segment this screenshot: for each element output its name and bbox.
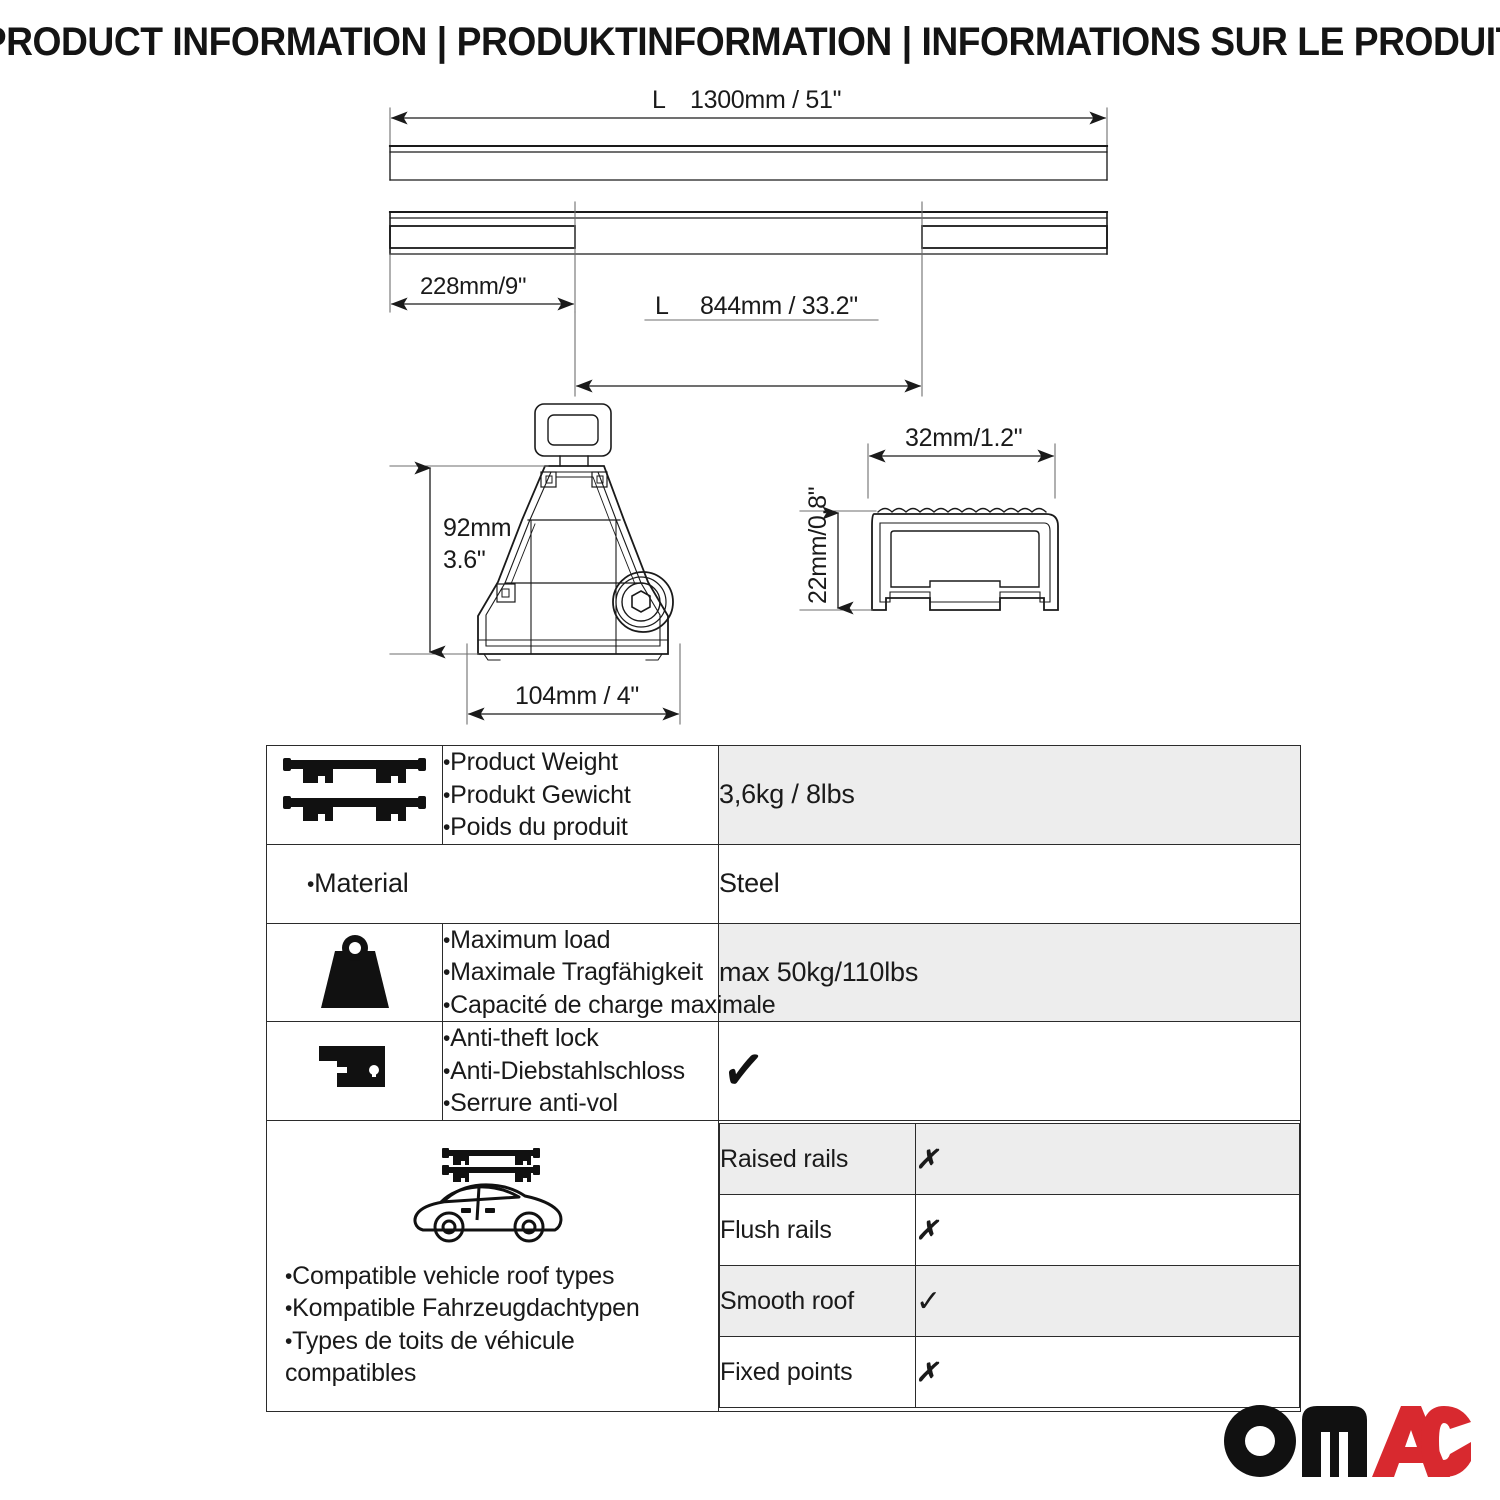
roof-types-table: Raised rails ✗ Flush rails ✗ <box>719 1123 1300 1408</box>
roof-type-row: Flush rails ✗ <box>720 1195 1300 1266</box>
roof-type-row: Fixed points ✗ <box>720 1337 1300 1408</box>
maximum-load-value-cell: max 50kg/110lbs <box>719 923 1301 1022</box>
roof-type-mark-cell: ✗ <box>916 1337 1300 1408</box>
maximum-load-value: max 50kg/110lbs <box>719 957 918 987</box>
profile-height-value: 22mm/0.8" <box>804 487 832 604</box>
roof-type-name: Raised rails <box>720 1124 916 1195</box>
roof-bars-icon <box>277 752 432 832</box>
label-fr: •Types de toits de véhicule compatibles <box>285 1325 685 1390</box>
roof-types-list-cell: Raised rails ✗ Flush rails ✗ <box>719 1120 1301 1411</box>
span-letter: L <box>655 292 669 320</box>
anti-theft-lock-check-icon: ✓ <box>719 1039 767 1103</box>
omac-logo-mark <box>1222 1402 1472 1480</box>
label-fr: •Capacité de charge maximale <box>443 989 718 1022</box>
label-de: •Anti-Diebstahlschloss <box>443 1055 718 1088</box>
foot-height-value-2: 3.6" <box>443 546 485 574</box>
end-offset-value: 228mm/9" <box>420 273 526 300</box>
lock-icon <box>305 1032 405 1104</box>
anti-theft-lock-labels: •Anti-theft lock •Anti-Diebstahlschloss … <box>443 1022 719 1121</box>
label-de: •Maximale Tragfähigkeit <box>443 956 718 989</box>
label-fr: •Poids du produit <box>443 811 718 844</box>
label-en: •Maximum load <box>443 924 718 957</box>
bar-length-value: 1300mm / 51" <box>690 86 841 114</box>
cross-icon: ✗ <box>916 1357 938 1387</box>
label-fr: •Serrure anti-vol <box>443 1087 718 1120</box>
roof-type-mark-cell: ✗ <box>916 1195 1300 1266</box>
label-en: •Compatible vehicle roof types <box>285 1260 718 1293</box>
label-en: •Anti-theft lock <box>443 1022 718 1055</box>
foot-width-value: 104mm / 4" <box>515 682 639 710</box>
span-value: 844mm / 33.2" <box>700 292 858 320</box>
page-title: PRODUCT INFORMATION | PRODUKTINFORMATION… <box>0 20 1500 65</box>
bar-length-letter: L <box>652 86 666 114</box>
roof-bars-icon-cell <box>267 746 443 845</box>
material-label: Material <box>314 868 408 898</box>
label-de: •Kompatible Fahrzeugdachtypen <box>285 1292 718 1325</box>
label-en: •Product Weight <box>443 746 718 779</box>
material-value-cell: Steel <box>719 844 1301 923</box>
material-label-cell: •Material <box>267 844 719 923</box>
technical-drawing: L 1300mm / 51" 228mm/9" L 844mm / 33.2" … <box>0 84 1500 739</box>
check-icon: ✓ <box>916 1285 941 1318</box>
product-weight-value: 3,6kg / 8lbs <box>719 779 855 809</box>
page-header: PRODUCT INFORMATION | PRODUKTINFORMATION… <box>0 0 1500 84</box>
material-value: Steel <box>719 868 780 898</box>
table-row-anti-theft-lock: •Anti-theft lock •Anti-Diebstahlschloss … <box>267 1022 1301 1121</box>
lock-icon-cell <box>267 1022 443 1121</box>
product-weight-value-cell: 3,6kg / 8lbs <box>719 746 1301 845</box>
maximum-load-labels: •Maximum load •Maximale Tragfähigkeit •C… <box>443 923 719 1022</box>
roof-type-row: Raised rails ✗ <box>720 1124 1300 1195</box>
omac-logo <box>1222 1402 1472 1480</box>
cross-icon: ✗ <box>916 1215 938 1245</box>
profile-width-value: 32mm/1.2" <box>905 424 1022 452</box>
anti-theft-lock-value-cell: ✓ <box>719 1022 1301 1121</box>
car-with-roof-bars-icon <box>405 1142 580 1250</box>
table-row-roof-types: •Compatible vehicle roof types •Kompatib… <box>267 1120 1301 1411</box>
roof-types-icon-and-labels: •Compatible vehicle roof types •Kompatib… <box>267 1120 719 1411</box>
product-weight-labels: •Product Weight •Produkt Gewicht •Poids … <box>443 746 719 845</box>
product-spec-table: •Product Weight •Produkt Gewicht •Poids … <box>266 745 1301 1412</box>
weight-icon-cell <box>267 923 443 1022</box>
table-row-maximum-load: •Maximum load •Maximale Tragfähigkeit •C… <box>267 923 1301 1022</box>
table-row-material: •Material Steel <box>267 844 1301 923</box>
roof-type-mark-cell: ✗ <box>916 1124 1300 1195</box>
roof-type-name: Smooth roof <box>720 1266 916 1337</box>
weight-icon <box>305 926 405 1014</box>
cross-icon: ✗ <box>916 1144 938 1174</box>
roof-type-name: Fixed points <box>720 1337 916 1408</box>
table-row-product-weight: •Product Weight •Produkt Gewicht •Poids … <box>267 746 1301 845</box>
roof-type-name: Flush rails <box>720 1195 916 1266</box>
label-de: •Produkt Gewicht <box>443 779 718 812</box>
material-label-wrap: •Material <box>267 868 718 899</box>
roof-type-row: Smooth roof ✓ <box>720 1266 1300 1337</box>
roof-type-mark-cell: ✓ <box>916 1266 1300 1337</box>
foot-height-value-1: 92mm <box>443 514 511 542</box>
